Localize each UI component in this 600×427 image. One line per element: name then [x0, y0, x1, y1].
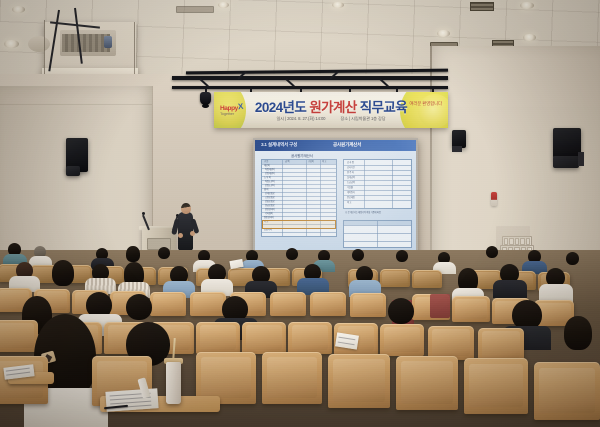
- wall-speaker-right-amp: [553, 156, 579, 168]
- table-header-cell: 구 분: [264, 161, 268, 163]
- table-cell: 노 무 비: [264, 177, 271, 179]
- table-header-cell: 금 액: [285, 161, 289, 163]
- table-cell: 준공예정: [347, 197, 355, 199]
- auditorium-seat-foreground[interactable]: [262, 352, 322, 404]
- wall-seam: [0, 104, 152, 105]
- table-cell: 설계금액: [347, 177, 355, 179]
- slide-caption: 공사원가계산서: [291, 154, 313, 159]
- auditorium-seat[interactable]: [452, 296, 490, 322]
- table-cell: 공급가액: [264, 229, 272, 231]
- presenter-head: [181, 203, 191, 214]
- audience-head: [352, 249, 364, 261]
- recessed-downlight: [523, 34, 536, 41]
- audience-head: [566, 252, 579, 265]
- slide-header-right-title: 공사원가계산서: [333, 142, 361, 148]
- auditorium-seat-foreground[interactable]: [328, 354, 390, 408]
- auditorium-seat[interactable]: [150, 292, 186, 316]
- auditorium-seat[interactable]: [196, 322, 240, 354]
- projector-lift-rail: [134, 22, 135, 78]
- seat-cushion-red[interactable]: [430, 294, 450, 318]
- air-vent: [470, 2, 494, 11]
- tumbler[interactable]: [166, 362, 181, 404]
- table-cell: 공사기간: [347, 167, 355, 169]
- slide-header-left-title: 3.1 설계내역서 구성: [261, 142, 297, 148]
- table-cell: 도급금액: [347, 182, 355, 184]
- handout-paper[interactable]: [105, 388, 158, 412]
- table-cell: 고용보험료: [265, 197, 275, 199]
- table-cell: 연금보험료: [265, 205, 275, 207]
- slide-highlight-box: [262, 220, 336, 229]
- wall-speaker-right: [553, 128, 581, 158]
- audience-head: [126, 294, 152, 320]
- table-cell: 낙찰률: [347, 187, 353, 189]
- table-col-divider: [364, 160, 365, 208]
- projector-vent-grille: [62, 34, 110, 52]
- auditorium-seat[interactable]: [380, 269, 410, 287]
- projector-nose: [28, 36, 50, 52]
- fire-alarm-icon: [491, 192, 497, 206]
- audience-head: [126, 246, 140, 262]
- event-banner: Happy Together X 2024년도 원가계산 직무교육 여러분 환영…: [214, 92, 448, 128]
- table-cell: 기타경비: [265, 213, 273, 215]
- lighting-truss-rail: [172, 76, 448, 80]
- recessed-downlight: [218, 2, 229, 8]
- table-cell: 공 사 명: [347, 162, 354, 164]
- audience-head: [486, 246, 498, 258]
- table-cell: 계약일자: [347, 192, 355, 194]
- table-cell: 간접노무비: [265, 185, 275, 187]
- table-cell: 일반관리비: [264, 217, 274, 219]
- table-cell: 비 고: [347, 202, 351, 204]
- presenter-hand-right: [190, 231, 195, 236]
- projector-lift-rail: [44, 20, 45, 78]
- recessed-downlight: [332, 2, 344, 8]
- audience-head: [286, 248, 298, 260]
- auditorium-seat-foreground[interactable]: [464, 358, 528, 414]
- table-col-divider: [392, 160, 393, 208]
- projection-screen: 3.1 설계내역서 구성 공사원가계산서 공사원가계산서 구 분 금 액 구성비…: [255, 140, 416, 258]
- table-cell: 건강보험료: [265, 201, 275, 203]
- lecture-hall-photo: Happy Together X 2024년도 원가계산 직무교육 여러분 환영…: [0, 0, 600, 427]
- table-header-cell: 구성비: [308, 161, 314, 163]
- ceiling-access-panel: [176, 6, 214, 13]
- auditorium-seat[interactable]: [478, 328, 524, 362]
- recessed-downlight: [4, 40, 19, 48]
- recessed-downlight: [12, 6, 25, 13]
- wall-speaker-left-amp: [66, 166, 80, 176]
- audience-head: [158, 247, 170, 259]
- table-header-cell: 비 고: [322, 161, 326, 163]
- auditorium-seat[interactable]: [270, 292, 306, 316]
- audience-head: [564, 316, 592, 350]
- table-cell: 직접재료비: [265, 169, 275, 171]
- auditorium-seat-foreground[interactable]: [534, 362, 600, 420]
- table-cell: 안전관리비: [265, 209, 275, 211]
- table-cell: 산재보험료: [265, 193, 275, 195]
- microphone-head: [142, 212, 145, 215]
- auditorium-seat-foreground[interactable]: [396, 356, 458, 410]
- table-cell: 발 주 처: [347, 172, 354, 174]
- auditorium-seat[interactable]: [428, 326, 474, 360]
- speaker-bracket: [578, 152, 584, 166]
- recessed-downlight: [437, 30, 450, 37]
- auditorium-seat[interactable]: [350, 293, 386, 317]
- slide-right-table: 공 사 명 공사기간 발 주 처 설계금액 도급금액 낙찰률 계약일자 준공예정…: [343, 159, 412, 209]
- audience-head: [388, 298, 414, 324]
- auditorium-seat[interactable]: [190, 292, 226, 316]
- auditorium-seat[interactable]: [310, 292, 346, 316]
- auditorium-seat[interactable]: [380, 324, 424, 356]
- lighting-truss-rail: [172, 86, 448, 89]
- stage-spotlight: [200, 92, 211, 105]
- auditorium-seat[interactable]: [242, 322, 286, 354]
- projector-lens: [104, 36, 112, 48]
- slide-footnote: ※ 본 계산서는 예정가격 작성 기준에 따름: [345, 212, 381, 214]
- audience-shoulders: [493, 280, 527, 298]
- table-cell: 재료비: [264, 165, 270, 167]
- audience-head: [52, 260, 74, 286]
- presenter-hand-left: [178, 233, 183, 238]
- auditorium-seat[interactable]: [0, 320, 38, 352]
- table-cell: 간접재료비: [265, 173, 275, 175]
- slide-right-table-secondary: [343, 220, 412, 248]
- table-cell: 경 비: [264, 189, 268, 191]
- table-cell: 직접노무비: [265, 181, 275, 183]
- audience-head: [396, 250, 408, 262]
- recessed-downlight: [520, 2, 534, 9]
- speaker-bracket: [452, 146, 462, 152]
- auditorium-seat[interactable]: [288, 322, 332, 354]
- auditorium-seat[interactable]: [412, 270, 442, 288]
- banner-sheen: [214, 92, 448, 128]
